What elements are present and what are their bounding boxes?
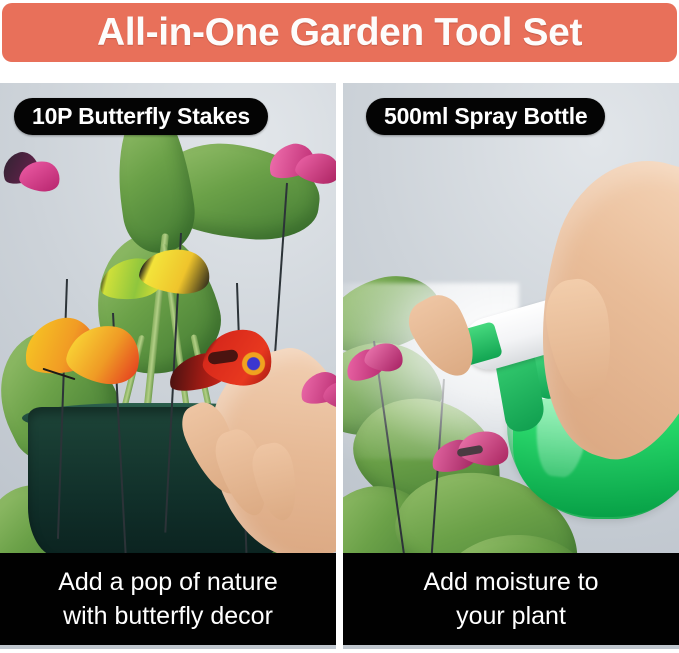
butterfly-stake-red-peacock — [168, 327, 274, 399]
caption-line-1: Add a pop of nature — [58, 565, 278, 599]
caption-line-1: Add moisture to — [423, 565, 598, 599]
butterfly-stake-pink-top-right — [268, 139, 336, 189]
badge-label: 10P Butterfly Stakes — [32, 103, 250, 130]
badge-butterfly-stakes: 10P Butterfly Stakes — [14, 98, 268, 135]
butterfly-stake-pink-lower — [431, 427, 509, 481]
photo-scene-spray-bottle: 500ml Spray Bottle Add moisture to your … — [343, 83, 679, 649]
badge-spray-bottle: 500ml Spray Bottle — [366, 98, 605, 135]
caption-spray-bottle: Add moisture to your plant — [343, 553, 679, 645]
badge-label: 500ml Spray Bottle — [384, 103, 587, 130]
butterfly-stake-pink-left — [2, 151, 64, 195]
page-title: All-in-One Garden Tool Set — [97, 11, 582, 55]
butterfly-stake-pink-right — [300, 369, 336, 415]
feature-panels: 10P Butterfly Stakes Add a pop of nature… — [0, 83, 679, 649]
butterfly-stake-yellow — [100, 249, 210, 307]
caption-line-2: with butterfly decor — [63, 599, 273, 633]
panel-butterfly-stakes: 10P Butterfly Stakes Add a pop of nature… — [0, 83, 336, 649]
panel-spray-bottle: 500ml Spray Bottle Add moisture to your … — [343, 83, 679, 649]
product-title-banner: All-in-One Garden Tool Set — [2, 3, 677, 62]
caption-butterfly-stakes: Add a pop of nature with butterfly decor — [0, 553, 336, 645]
butterfly-stake-orange — [24, 319, 140, 401]
photo-scene-butterfly-stakes: 10P Butterfly Stakes Add a pop of nature… — [0, 83, 336, 649]
caption-line-2: your plant — [456, 599, 566, 633]
butterfly-stake-pink-upper — [345, 343, 403, 387]
